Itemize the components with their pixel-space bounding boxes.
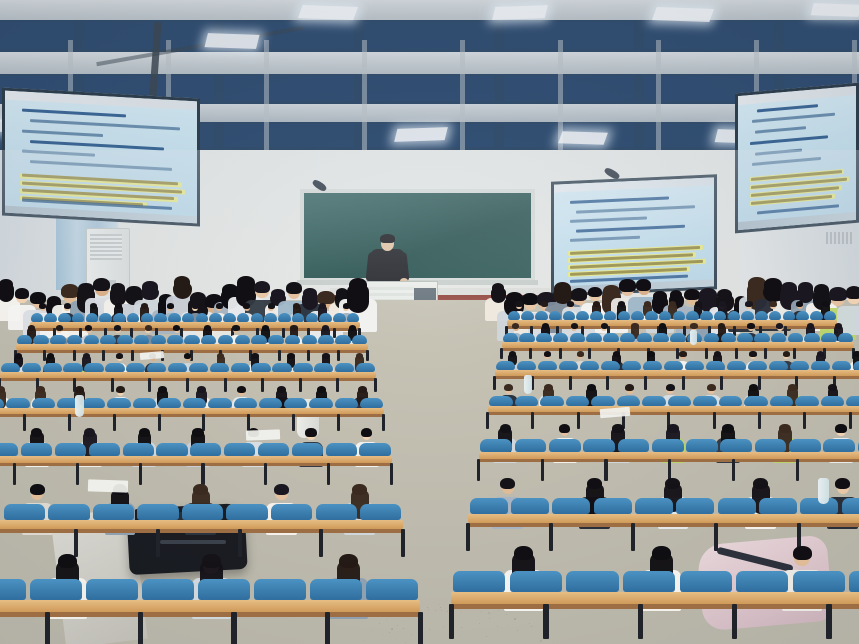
lecture-hall-photo: [0, 0, 859, 644]
desk-leg: [732, 604, 737, 640]
desk-leg: [826, 604, 831, 640]
seat-back: [510, 571, 562, 592]
water-bottle: [524, 375, 532, 394]
notebook: [88, 479, 128, 492]
water-bottle: [690, 330, 697, 345]
desk-leg: [543, 604, 548, 640]
seat-back: [453, 571, 505, 592]
desk-leg: [638, 604, 643, 640]
seat-back: [623, 571, 675, 592]
seat-back: [566, 571, 618, 592]
desk-top: [451, 592, 859, 604]
student-hair: [793, 546, 812, 560]
water-bottle: [818, 478, 829, 504]
notebook: [246, 429, 280, 440]
seating-area: [0, 0, 859, 644]
seat-back: [849, 571, 859, 592]
desk-edge: [451, 604, 859, 609]
seat-back: [793, 571, 845, 592]
desk-leg: [449, 604, 454, 640]
seat-back: [736, 571, 788, 592]
desk-row: [0, 0, 859, 644]
seat-back: [680, 571, 732, 592]
water-bottle: [75, 395, 84, 417]
